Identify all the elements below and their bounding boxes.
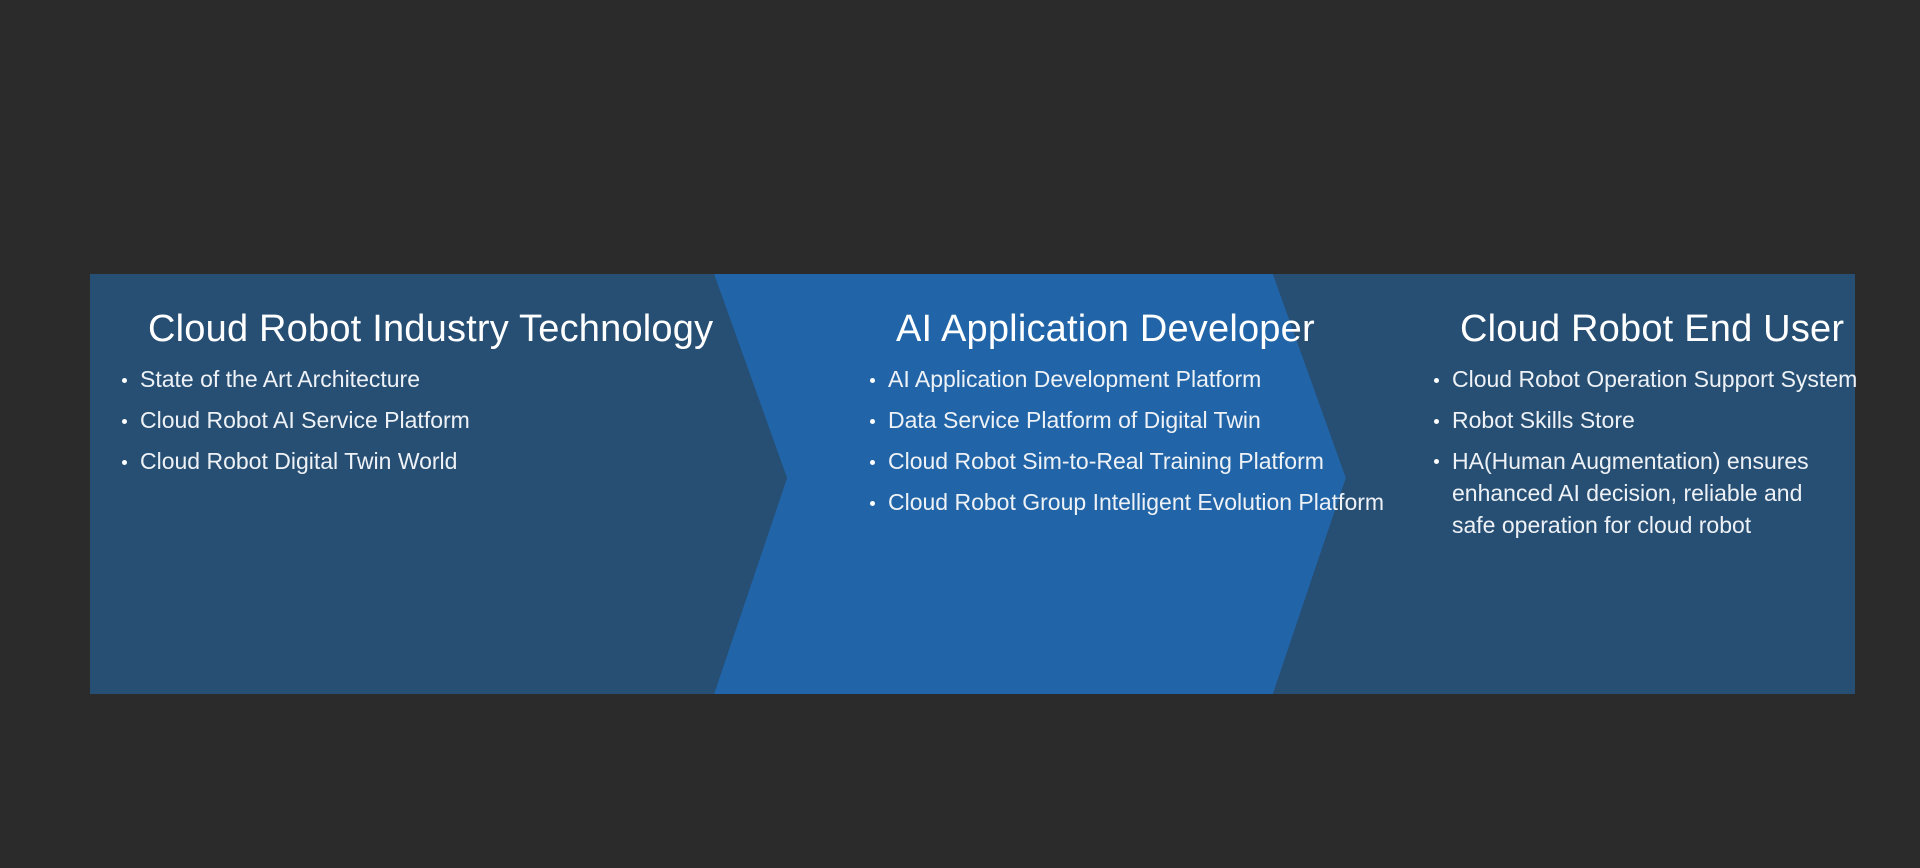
list-item: Cloud Robot Digital Twin World <box>120 441 770 482</box>
list-item: State of the Art Architecture <box>120 359 770 400</box>
list-item: Cloud Robot Operation Support System <box>1432 359 1832 400</box>
list-item: Robot Skills Store <box>1432 400 1832 441</box>
panel-cloud-robot-industry-technology: Cloud Robot Industry Technology State of… <box>90 274 810 694</box>
panel-1-bullet-list: State of the Art Architecture Cloud Robo… <box>120 359 770 482</box>
panel-3-title: Cloud Robot End User <box>1460 310 1844 348</box>
panel-2-bullet-list: AI Application Development Platform Data… <box>868 359 1368 523</box>
list-item: Cloud Robot Sim-to-Real Training Platfor… <box>868 441 1368 482</box>
value-chain-banner: Cloud Robot Industry Technology State of… <box>90 274 1855 694</box>
panel-cloud-robot-end-user: Cloud Robot End User Cloud Robot Operati… <box>1370 274 1855 694</box>
list-item: Data Service Platform of Digital Twin <box>868 400 1368 441</box>
panel-1-title: Cloud Robot Industry Technology <box>148 310 713 348</box>
list-item: Cloud Robot AI Service Platform <box>120 400 770 441</box>
panel-3-bullet-list: Cloud Robot Operation Support System Rob… <box>1432 359 1832 546</box>
panel-2-title: AI Application Developer <box>896 310 1315 348</box>
list-item: Cloud Robot Group Intelligent Evolution … <box>868 482 1368 523</box>
panel-ai-application-developer: AI Application Developer AI Application … <box>810 274 1370 694</box>
list-item: HA(Human Augmentation) ensures enhanced … <box>1432 441 1832 546</box>
list-item: AI Application Development Platform <box>868 359 1368 400</box>
